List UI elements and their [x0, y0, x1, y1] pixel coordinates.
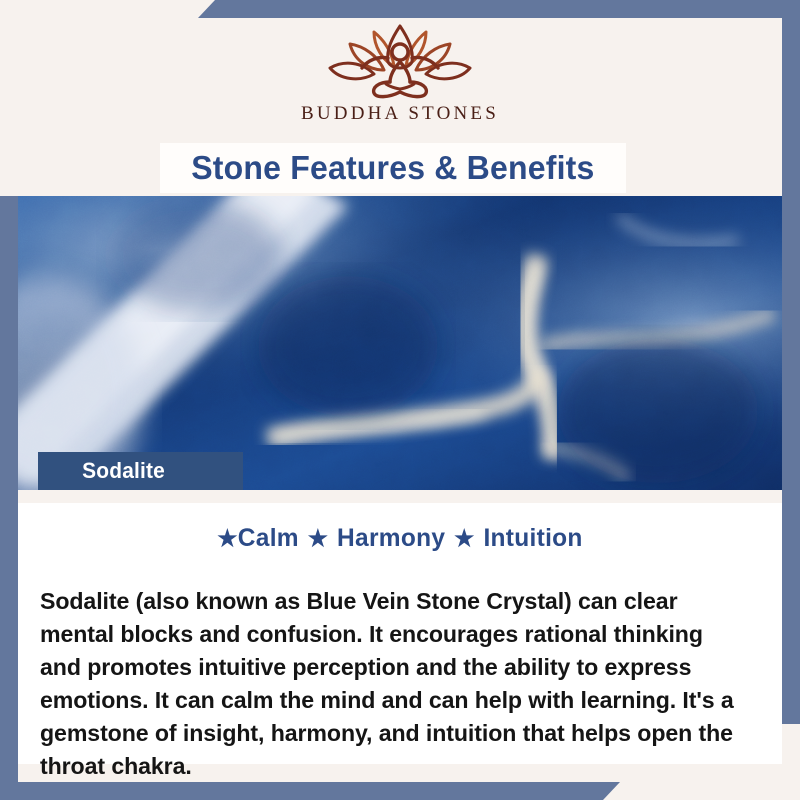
title-banner: Stone Features & Benefits — [160, 143, 626, 193]
cream-divider-strip — [18, 490, 782, 503]
lotus-meditation-icon — [316, 22, 484, 102]
keyword-intuition: Intuition — [483, 524, 582, 552]
keyword-list: ★Calm★Harmony★Intuition — [45, 524, 755, 553]
stone-name-banner: Sodalite — [38, 452, 243, 490]
sodalite-texture-art — [18, 196, 782, 490]
star-icon: ★ — [217, 525, 238, 551]
stone-name: Sodalite — [82, 458, 165, 484]
keyword-calm: Calm — [238, 524, 299, 552]
star-icon: ★ — [454, 525, 475, 551]
keyword-harmony: Harmony — [337, 524, 445, 552]
frame-right-bar — [782, 18, 800, 724]
frame-bottom-bar — [0, 782, 800, 800]
stone-description: Sodalite (also known as Blue Vein Stone … — [40, 585, 745, 783]
infographic-poster: BUDDHA STONES Stone Features & Benefits — [0, 0, 800, 800]
frame-left-bar — [0, 196, 18, 782]
page-title: Stone Features & Benefits — [191, 149, 594, 187]
frame-top-bar — [0, 0, 800, 18]
brand-name: BUDDHA STONES — [301, 103, 499, 125]
star-icon: ★ — [308, 525, 329, 551]
stone-content: ★Calm★Harmony★Intuition Sodalite (also k… — [38, 508, 762, 783]
stone-photo — [18, 196, 782, 490]
brand-header: BUDDHA STONES — [18, 18, 782, 143]
